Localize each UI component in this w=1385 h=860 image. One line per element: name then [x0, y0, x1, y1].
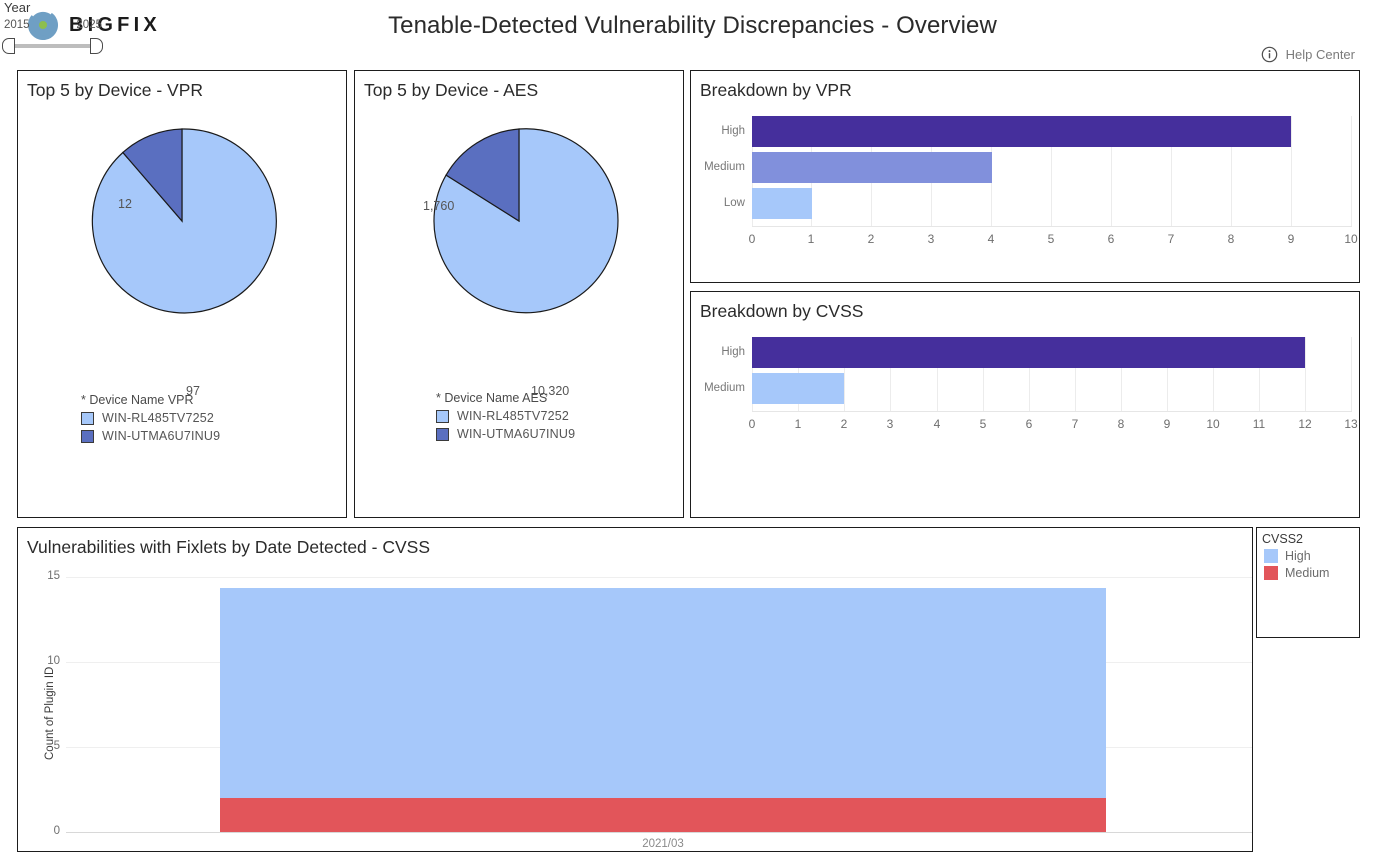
x-tick: 2: [829, 417, 859, 431]
panel-title-breakdown-vpr: Breakdown by VPR: [691, 71, 1359, 101]
dashboard-root: BIGFIX Tenable-Detected Vulnerability Di…: [0, 0, 1385, 860]
panel-breakdown-by-cvss: Breakdown by CVSS High Medium 0 1: [690, 291, 1360, 518]
gridline: [1351, 116, 1352, 226]
legend-swatch-icon: [81, 412, 94, 425]
y-tick: 10: [28, 655, 60, 667]
x-tick-2021-03: 2021/03: [583, 838, 743, 850]
legend-label: High: [1285, 549, 1311, 563]
pie-legend-aes: * Device Name AES WIN-RL485TV7252 WIN-UT…: [355, 391, 683, 445]
page-title: Tenable-Detected Vulnerability Discrepan…: [0, 12, 1385, 40]
y-tick: 5: [28, 740, 60, 752]
x-tick: 7: [1156, 232, 1186, 246]
x-axis-line: [752, 226, 1352, 227]
stack-segment-high[interactable]: [220, 588, 1106, 798]
pie-slice-value-12: 12: [118, 197, 132, 211]
x-tick: 6: [1096, 232, 1126, 246]
pie-svg-vpr: [82, 121, 282, 321]
y-tick: 0: [28, 825, 60, 837]
legend-item-win-utma6u7inu9-aes[interactable]: WIN-UTMA6U7INU9: [436, 427, 683, 441]
x-tick: 1: [783, 417, 813, 431]
x-tick: 10: [1336, 232, 1366, 246]
stacked-bar-chart[interactable]: Count of Plugin ID 15 10 5 0 2021/03: [18, 528, 1252, 851]
x-tick: 4: [922, 417, 952, 431]
legend-item-win-utma6u7inu9-vpr[interactable]: WIN-UTMA6U7INU9: [81, 429, 346, 443]
pie-chart-vpr[interactable]: 12 97: [18, 121, 346, 391]
gridline: [1351, 337, 1352, 411]
gridline: [66, 577, 1252, 578]
legend-item-win-rl485tv7252-vpr[interactable]: WIN-RL485TV7252: [81, 411, 346, 425]
panel-top5-device-vpr: Top 5 by Device - VPR 12 97 * Device Nam…: [17, 70, 347, 518]
legend-label: WIN-RL485TV7252: [102, 411, 214, 425]
bar-medium[interactable]: [752, 152, 992, 183]
year-max-label: 2025: [76, 19, 102, 31]
help-center-label: Help Center: [1286, 47, 1355, 62]
pie-slice-value-1760: 1,760: [423, 199, 454, 213]
x-tick: 9: [1276, 232, 1306, 246]
x-tick: 12: [1290, 417, 1320, 431]
pie-legend-title-aes: * Device Name AES: [436, 391, 683, 405]
x-tick: 13: [1336, 417, 1366, 431]
legend-item-high[interactable]: High: [1257, 549, 1359, 566]
legend-item-medium[interactable]: Medium: [1257, 566, 1359, 583]
panel-title-top5-aes: Top 5 by Device - AES: [355, 71, 683, 101]
pie-chart-aes[interactable]: 1,760 10,320: [355, 121, 683, 391]
bar-category-low: Low: [691, 197, 745, 209]
x-tick: 0: [737, 232, 767, 246]
pie-legend-vpr: * Device Name VPR WIN-RL485TV7252 WIN-UT…: [18, 393, 346, 447]
legend-label: WIN-UTMA6U7INU9: [457, 427, 575, 441]
x-axis-line: [752, 411, 1352, 412]
pie-svg-aes: [419, 121, 619, 321]
x-tick: 4: [976, 232, 1006, 246]
legend-label: Medium: [1285, 566, 1329, 580]
x-tick: 3: [916, 232, 946, 246]
x-tick: 2: [856, 232, 886, 246]
x-tick: 1: [796, 232, 826, 246]
year-range-slider[interactable]: [0, 37, 104, 55]
slider-track[interactable]: [12, 44, 92, 48]
bar-category-high: High: [691, 125, 745, 137]
gridline: [1291, 116, 1292, 226]
slider-handle-max[interactable]: [90, 38, 103, 54]
bar-chart-vpr[interactable]: High Medium Low 0 1 2 3 4 5 6 7 8 9 10: [691, 111, 1361, 261]
legend-swatch-icon: [436, 410, 449, 423]
x-tick: 5: [1036, 232, 1066, 246]
panel-breakdown-by-vpr: Breakdown by VPR High Medium Low 0: [690, 70, 1360, 283]
bar-high[interactable]: [752, 337, 1305, 368]
bar-category-medium: Medium: [691, 382, 745, 394]
pie-legend-title-vpr: * Device Name VPR: [81, 393, 346, 407]
stack-segment-medium[interactable]: [220, 798, 1106, 832]
legend-swatch-icon: [436, 428, 449, 441]
bar-category-medium: Medium: [691, 161, 745, 173]
panel-vulnerabilities-by-date-detected: Vulnerabilities with Fixlets by Date Det…: [17, 527, 1253, 852]
year-range-labels: 2015 2025: [0, 19, 104, 35]
bar-low[interactable]: [752, 188, 812, 219]
x-tick: 7: [1060, 417, 1090, 431]
x-tick: 8: [1106, 417, 1136, 431]
legend-swatch-icon: [81, 430, 94, 443]
x-tick: 6: [1014, 417, 1044, 431]
slider-handle-min[interactable]: [2, 38, 15, 54]
y-tick: 15: [28, 570, 60, 582]
x-tick: 8: [1216, 232, 1246, 246]
info-circle-icon: [1261, 46, 1278, 63]
x-tick: 11: [1244, 417, 1274, 431]
legend-label: WIN-RL485TV7252: [457, 409, 569, 423]
legend-panel-cvss2: CVSS2 High Medium: [1256, 527, 1360, 638]
legend-panel-title: CVSS2: [1257, 528, 1359, 549]
x-tick: 10: [1198, 417, 1228, 431]
help-center-link[interactable]: Help Center: [1261, 46, 1355, 63]
bar-chart-cvss[interactable]: High Medium 0 1 2 3 4 5 6 7 8 9 10 11 12…: [691, 332, 1361, 472]
x-tick: 5: [968, 417, 998, 431]
panel-title-top5-vpr: Top 5 by Device - VPR: [18, 71, 346, 101]
bar-category-high: High: [691, 346, 745, 358]
panel-title-breakdown-cvss: Breakdown by CVSS: [691, 292, 1359, 322]
legend-swatch-icon: [1264, 566, 1278, 580]
dashboard-header: BIGFIX Tenable-Detected Vulnerability Di…: [0, 0, 1385, 62]
bar-high[interactable]: [752, 116, 1291, 147]
year-min-label: 2015: [4, 19, 30, 31]
x-tick: 9: [1152, 417, 1182, 431]
legend-swatch-icon: [1264, 549, 1278, 563]
x-tick: 0: [737, 417, 767, 431]
gridline: [1305, 337, 1306, 411]
x-axis-line: [66, 832, 1252, 833]
x-tick: 3: [875, 417, 905, 431]
panel-top5-device-aes: Top 5 by Device - AES 1,760 10,320 * Dev…: [354, 70, 684, 518]
legend-item-win-rl485tv7252-aes[interactable]: WIN-RL485TV7252: [436, 409, 683, 423]
bar-medium[interactable]: [752, 373, 844, 404]
legend-label: WIN-UTMA6U7INU9: [102, 429, 220, 443]
